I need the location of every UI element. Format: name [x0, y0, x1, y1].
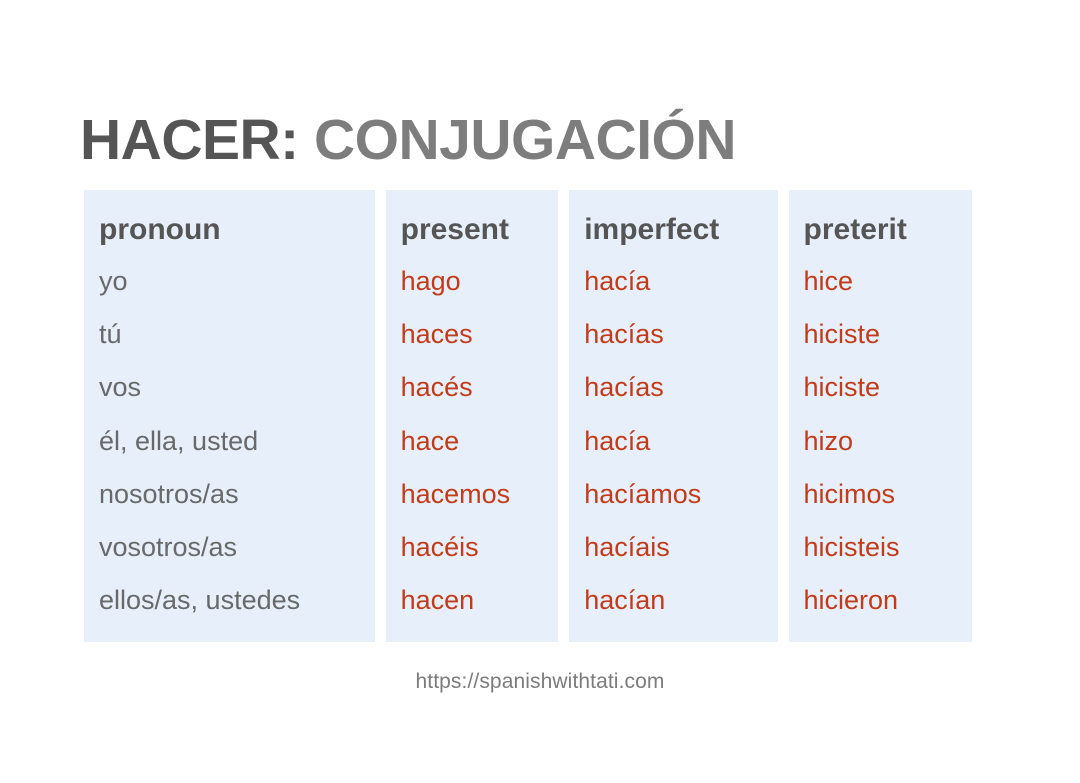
table-row: hacíamos — [569, 467, 777, 520]
page-title: HACER: CONJUGACIÓN — [80, 112, 736, 169]
table-row: haces — [386, 307, 559, 360]
table-row: vosotros/as — [84, 520, 375, 573]
column-pronoun: pronoun yo tú vos él, ella, usted nosotr… — [84, 190, 375, 642]
table-row: hacéis — [386, 520, 559, 573]
footer-url: https://spanishwithtati.com — [0, 670, 1080, 694]
table-row: hiciste — [789, 307, 973, 360]
column-header-imperfect: imperfect — [569, 204, 777, 254]
table-row: hicisteis — [789, 520, 973, 573]
table-row: hizo — [789, 414, 973, 467]
column-header-preterit: preterit — [789, 204, 973, 254]
title-verb: HACER: — [80, 108, 299, 172]
table-row: hiciste — [789, 360, 973, 413]
table-row: hacías — [569, 360, 777, 413]
table-row: tú — [84, 307, 375, 360]
table-row: hacíais — [569, 520, 777, 573]
table-row: hacían — [569, 573, 777, 626]
table-row: él, ella, usted — [84, 414, 375, 467]
title-word: CONJUGACIÓN — [314, 108, 736, 172]
slide-canvas: HACER: CONJUGACIÓN pronoun yo tú vos él,… — [0, 0, 1080, 783]
table-row: hacía — [569, 414, 777, 467]
table-row: nosotros/as — [84, 467, 375, 520]
conjugation-table: pronoun yo tú vos él, ella, usted nosotr… — [84, 190, 972, 642]
column-header-present: present — [386, 204, 559, 254]
table-row: hacías — [569, 307, 777, 360]
table-row: hice — [789, 254, 973, 307]
table-row: hicimos — [789, 467, 973, 520]
column-preterit: preterit hice hiciste hiciste hizo hicim… — [789, 190, 973, 642]
table-row: hace — [386, 414, 559, 467]
table-row: hago — [386, 254, 559, 307]
column-present: present hago haces hacés hace hacemos ha… — [386, 190, 559, 642]
column-imperfect: imperfect hacía hacías hacías hacía hací… — [569, 190, 777, 642]
table-row: hacés — [386, 360, 559, 413]
table-row: hicieron — [789, 573, 973, 626]
table-row: hacen — [386, 573, 559, 626]
table-row: yo — [84, 254, 375, 307]
table-row: ellos/as, ustedes — [84, 573, 375, 626]
table-row: hacía — [569, 254, 777, 307]
table-row: vos — [84, 360, 375, 413]
column-header-pronoun: pronoun — [84, 204, 375, 254]
table-row: hacemos — [386, 467, 559, 520]
